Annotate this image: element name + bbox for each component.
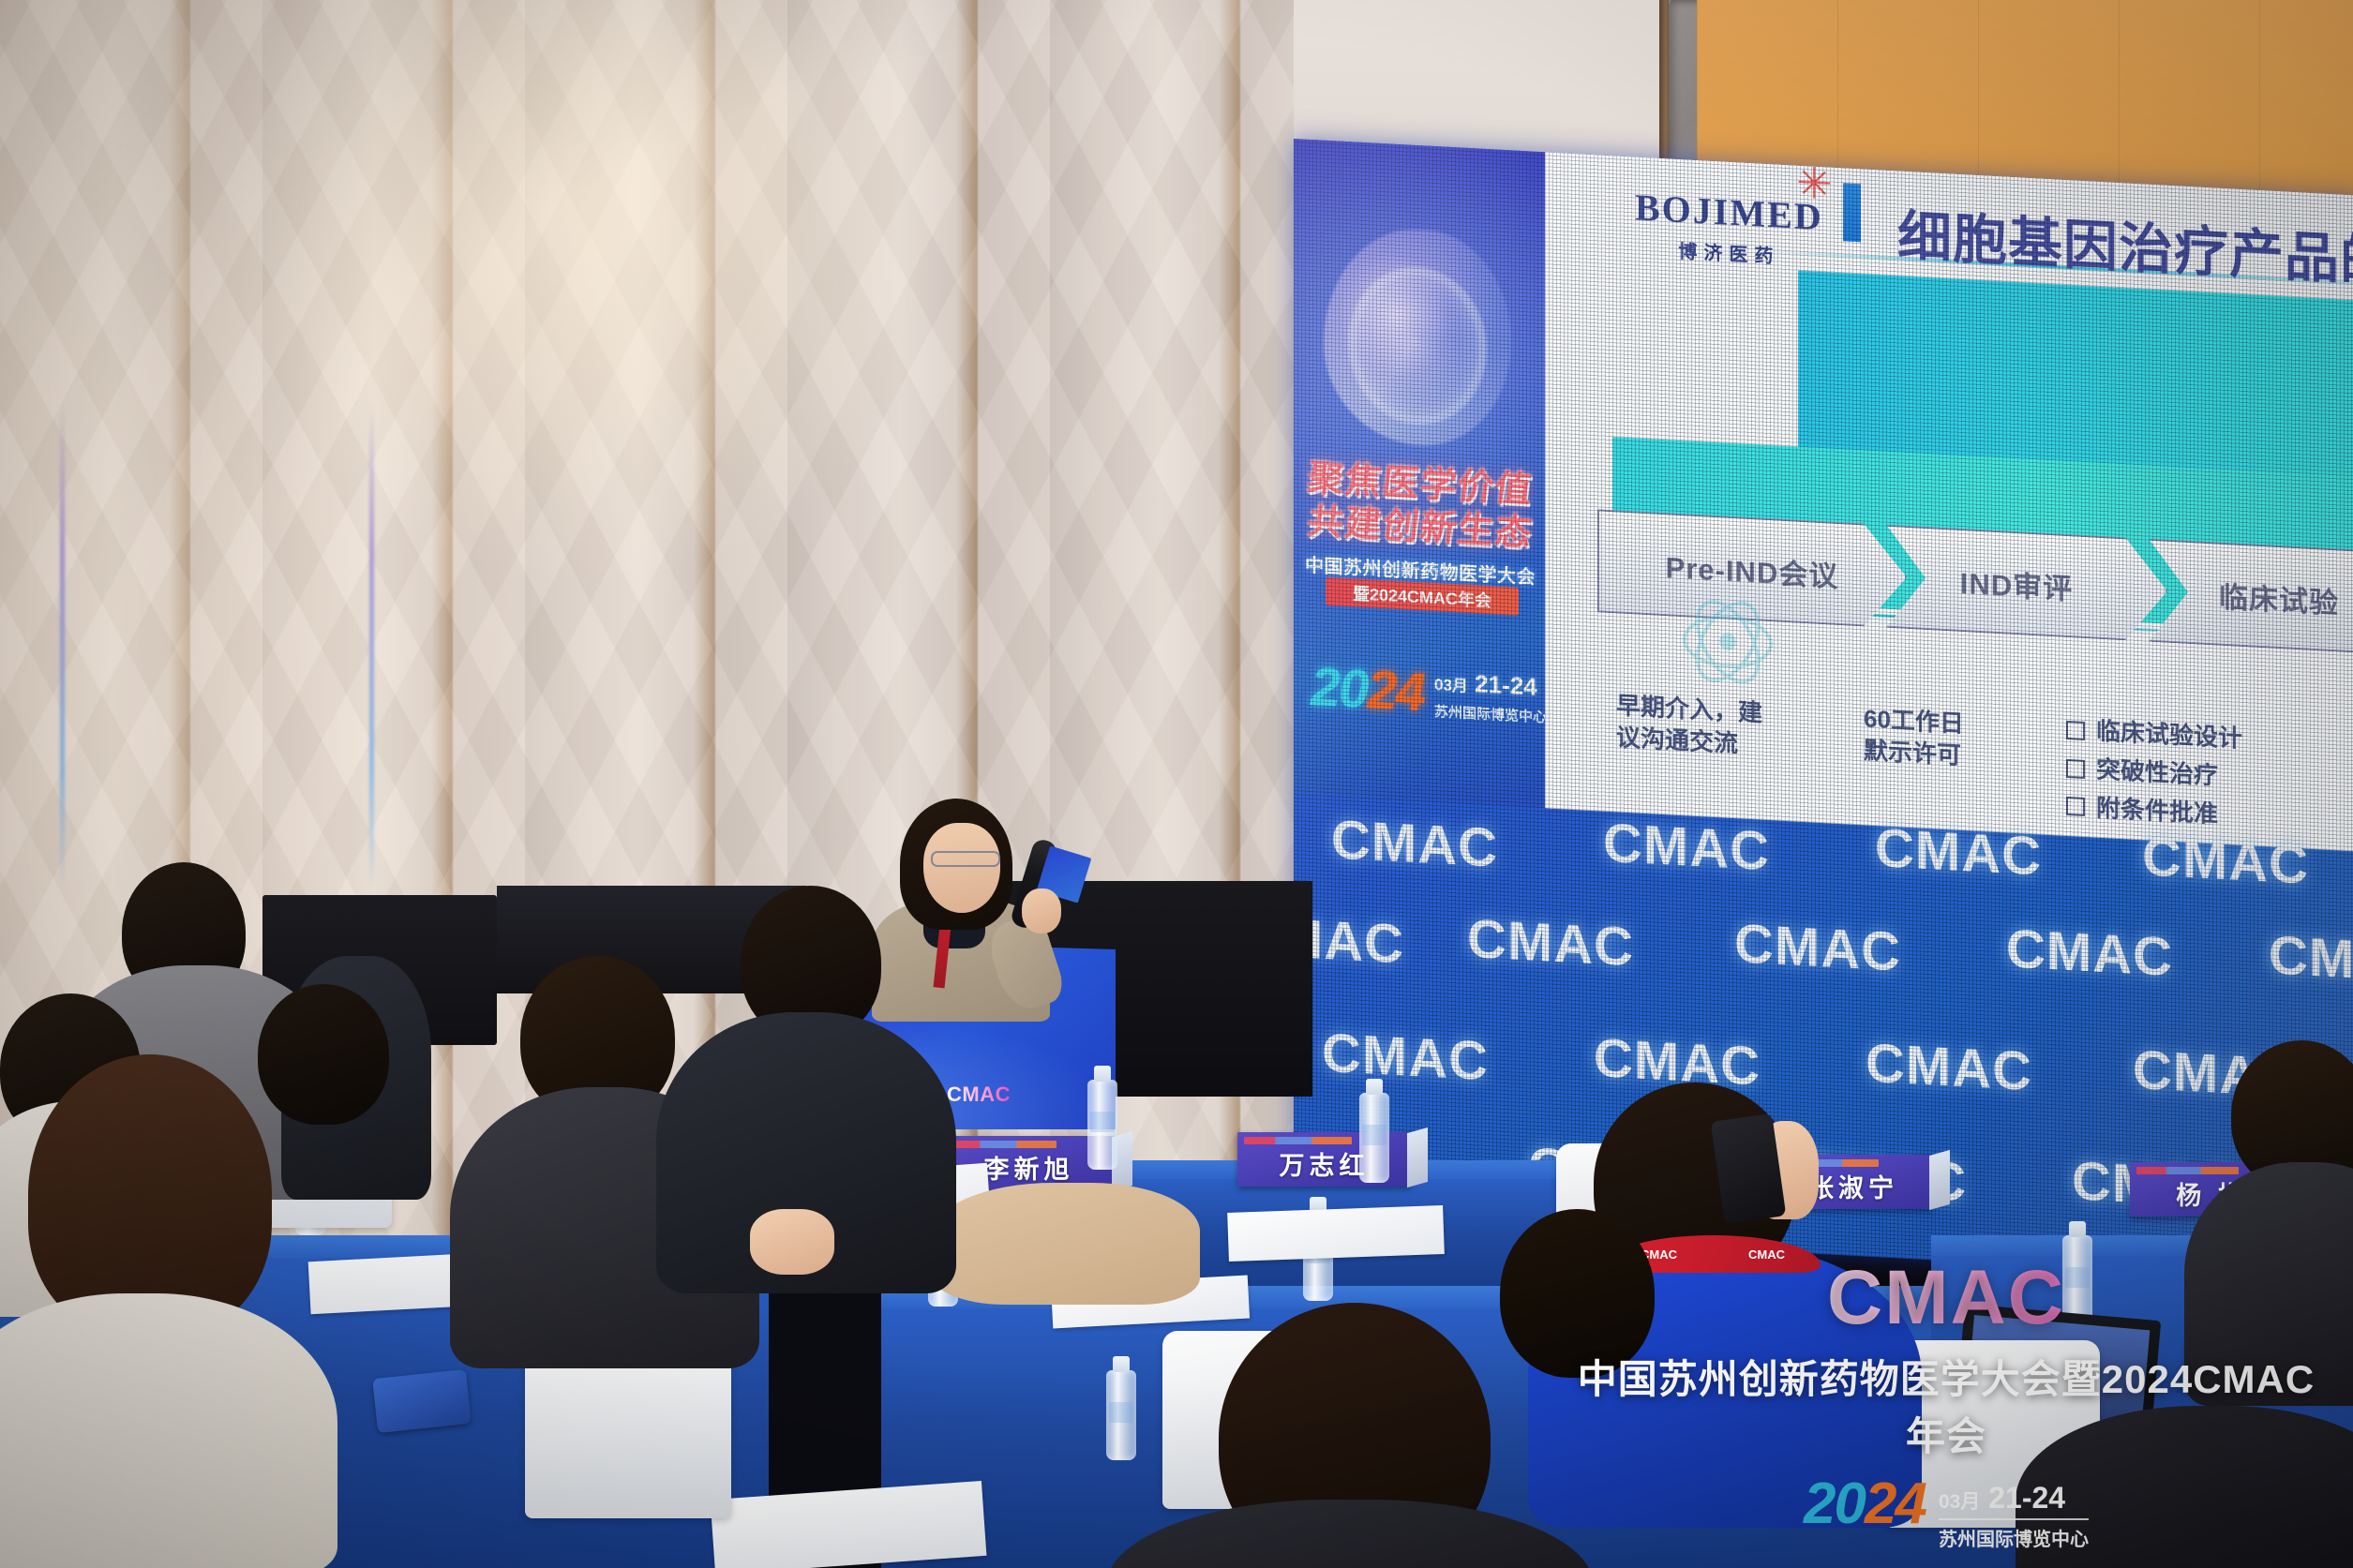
watermark-year-first: 20 <box>1804 1471 1865 1536</box>
checkbox-icon <box>2066 759 2085 779</box>
cmac-tile: CMAC <box>1866 1032 2032 1103</box>
slide-column-2: 60工作日 默示许可 <box>1864 703 2032 775</box>
cmac-tile: CMAC <box>2006 917 2173 988</box>
cmac-tile: CMAC <box>1467 907 1634 978</box>
wall-light-glow <box>169 0 1012 637</box>
audience-body <box>0 1293 337 1568</box>
cmac-watermark: CMAC 中国苏州创新药物医学大会暨2024CMAC年会 2024 03月 21… <box>1571 1260 2321 1551</box>
mobile-phone <box>372 1369 472 1433</box>
wall-accent-light <box>369 403 374 890</box>
led-video-wall: 聚焦医学价值 共建创新生态 中国苏州创新药物医学大会 暨2024CMAC年会 2… <box>1294 139 2353 1283</box>
chair <box>525 1350 731 1518</box>
flow-step-2-label: IND审评 <box>1960 559 2073 606</box>
nameplate-strip <box>2136 1167 2239 1174</box>
cmac-watermark-title: 中国苏州创新药物医学大会暨2024CMAC年会 <box>1571 1348 2321 1462</box>
nameplate-3-side <box>1929 1150 1950 1210</box>
slide-column-1: 早期介入，建 议沟通交流 <box>1616 690 1832 765</box>
speaker-face <box>923 823 1000 913</box>
water-bottle <box>1359 1093 1389 1183</box>
audience-hand <box>750 1209 834 1275</box>
paper-sheet <box>1227 1205 1445 1262</box>
cmac-watermark-date-row: 2024 03月 21-24 苏州国际博览中心 <box>1571 1477 2321 1551</box>
cmac-tile: CMAC <box>1322 1022 1489 1093</box>
checkbox-icon <box>2066 721 2085 740</box>
watermark-month: 03月 <box>1939 1491 1980 1513</box>
checklist-item-label: 临床试验设计 <box>2096 716 2242 755</box>
asterisk-icon: ✳ <box>1796 162 1837 205</box>
cmac-tile: CMAC <box>2142 825 2309 896</box>
water-bottle <box>1106 1370 1136 1460</box>
slide-checklist: 临床试验设计 突破性治疗 附条件批准 <box>2066 714 2353 846</box>
conference-photo: 聚焦医学价值 共建创新生态 中国苏州创新药物医学大会 暨2024CMAC年会 2… <box>0 0 2353 1568</box>
flow-step-3: 临床试验 <box>2149 539 2353 657</box>
poster-month: 03月 <box>1434 676 1468 695</box>
bojimed-logo-en: BOJIMED <box>1635 185 1823 239</box>
molecule-icon <box>1657 582 1798 702</box>
cmac-tile: CMAC <box>1734 912 1901 983</box>
checkbox-icon <box>2066 797 2085 816</box>
watermark-year-second: 24 <box>1865 1471 1926 1536</box>
podium-cmac-logo: CMAC <box>947 1083 1011 1107</box>
checklist-item-label: 附条件批准 <box>2096 792 2218 830</box>
cmac-tile: CMAC <box>1603 812 1770 883</box>
presentation-slide: BOJIMED 博济医药 ✳ 细胞基因治疗产品的临 Pre-IND会议 IND审… <box>1545 152 2353 852</box>
cmac-tile: CMAC <box>1331 808 1498 879</box>
water-bottle <box>1087 1080 1117 1170</box>
poster-date: 03月 21-24 <box>1434 667 1537 702</box>
checklist-item-label: 突破性治疗 <box>2096 754 2218 792</box>
flow-step-2: IND审评 <box>1886 525 2167 643</box>
speaker-hand <box>1022 889 1061 933</box>
coat-on-chair <box>928 1183 1200 1305</box>
nameplate-1-label: 李新旭 <box>984 1149 1074 1186</box>
audience-head <box>258 984 389 1125</box>
bojimed-logo: BOJIMED 博济医药 <box>1635 185 1823 271</box>
cmac-watermark-when: 03月 21-24 苏州国际博览中心 <box>1939 1477 2089 1551</box>
poster-year-first: 20 <box>1311 656 1368 720</box>
nameplate-strip <box>949 1141 1057 1148</box>
cmac-tile: CMAC <box>1875 816 2042 888</box>
cmac-watermark-logo: CMAC <box>1571 1260 2321 1337</box>
wall-accent-light <box>60 403 65 890</box>
poster-year-second: 24 <box>1368 659 1425 723</box>
nameplate-3-label: 张淑宁 <box>1808 1168 1898 1204</box>
poster-year: 2024 <box>1311 655 1424 724</box>
nameplate-2-label: 万志红 <box>1280 1145 1370 1182</box>
watermark-date-line: 03月 21-24 <box>1939 1481 2089 1516</box>
nameplate-2-side <box>1407 1127 1428 1187</box>
watermark-rule <box>1939 1518 2089 1520</box>
cmac-tile: CMAC <box>2269 923 2353 994</box>
glasses-icon <box>931 851 1000 867</box>
watermark-date-range: 21-24 <box>1988 1481 2065 1515</box>
poster-swirl-graphic <box>1324 225 1511 451</box>
bojimed-logo-cn: 博济医药 <box>1635 233 1823 271</box>
flow-step-3-label: 临床试验 <box>2219 573 2339 621</box>
conference-poster: 聚焦医学价值 共建创新生态 中国苏州创新药物医学大会 暨2024CMAC年会 2… <box>1294 139 1547 808</box>
poster-date-range: 21-24 <box>1475 669 1537 701</box>
logo-accent-bar <box>1843 183 1861 242</box>
poster-venue: 苏州国际博览中心 <box>1434 701 1547 726</box>
cmac-watermark-year: 2024 <box>1804 1477 1926 1532</box>
nameplate-strip <box>1244 1137 1352 1144</box>
watermark-venue: 苏州国际博览中心 <box>1939 1524 2089 1551</box>
